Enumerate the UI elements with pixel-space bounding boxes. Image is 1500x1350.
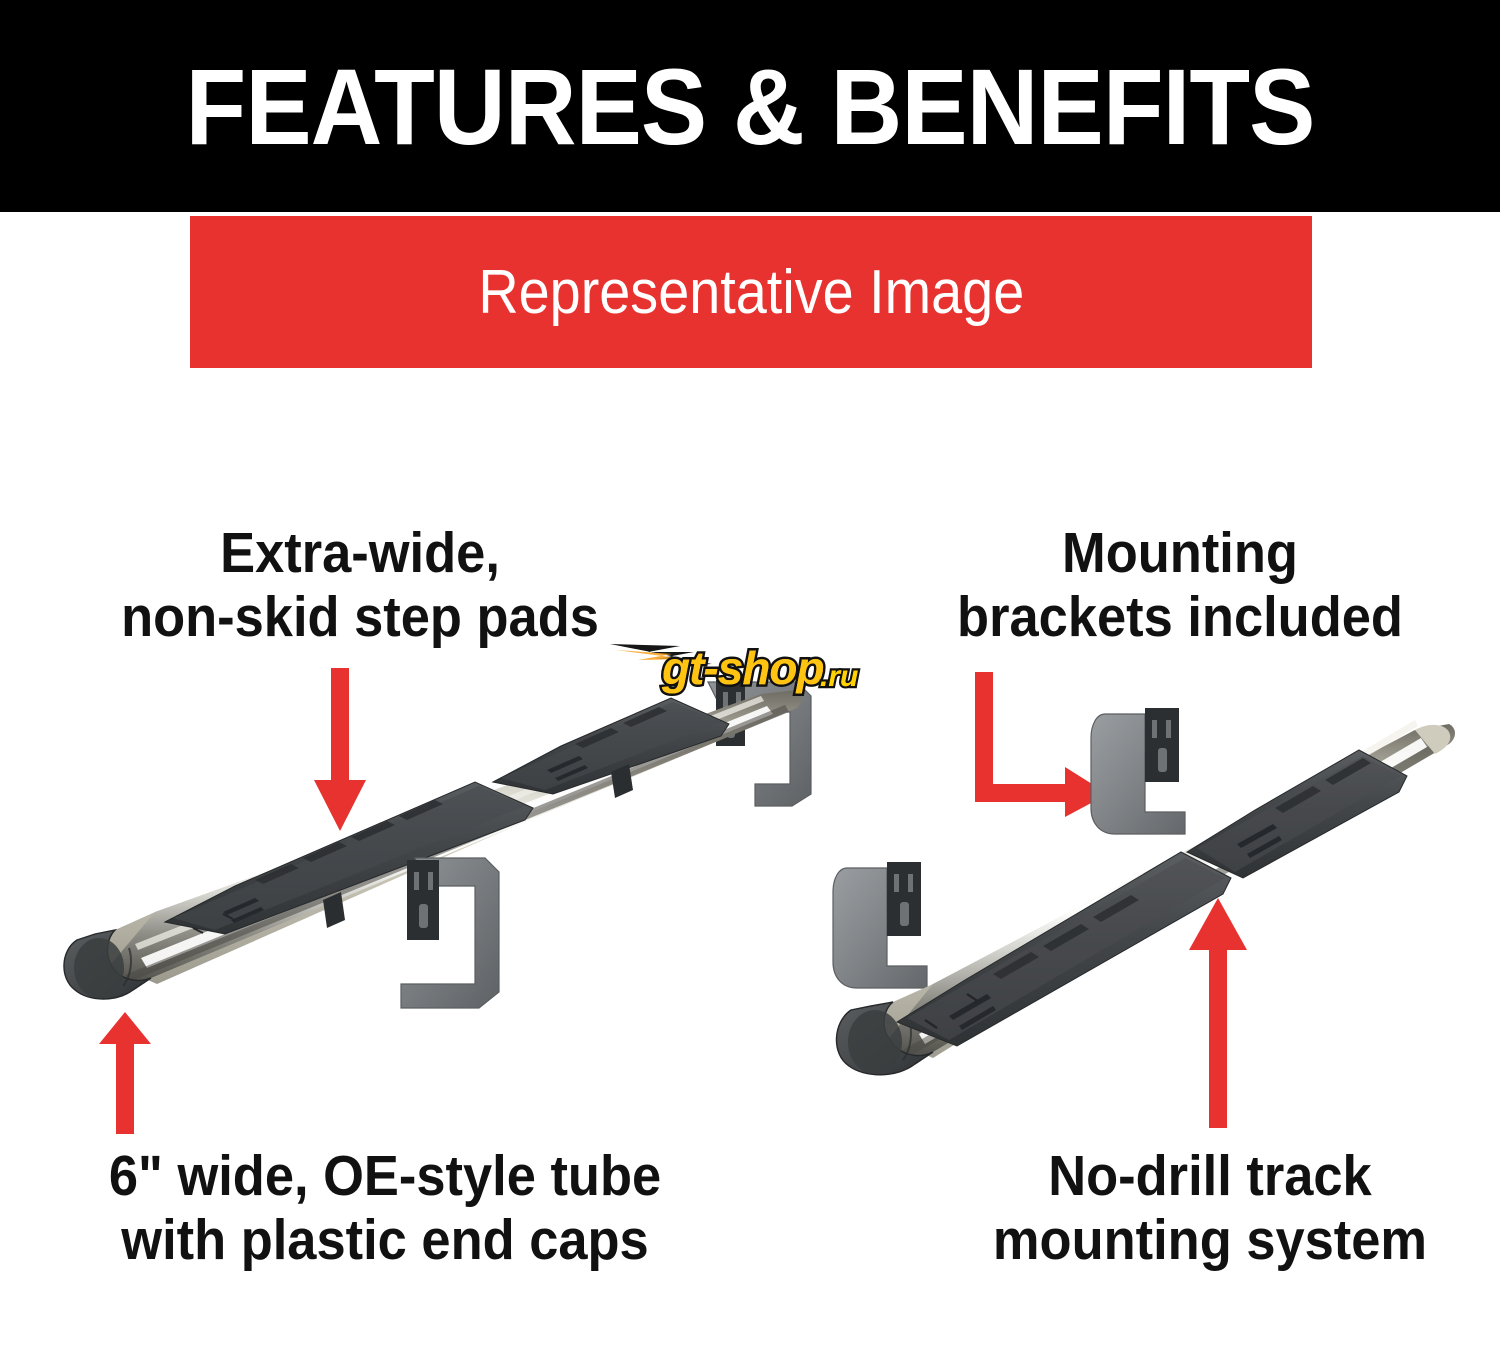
callout-oe-style-tube: 6" wide, OE-style tube with plastic end …: [58, 1145, 711, 1273]
callout-no-drill-track: No-drill track mounting system: [971, 1145, 1449, 1273]
product-image-running-board-left: [55, 672, 845, 1042]
watermark-wordmark: gt-shop gt-shop .ru .ru: [661, 642, 858, 694]
step-pad-rear: [1187, 750, 1407, 878]
no-drill-bracket-upper: [1091, 708, 1185, 834]
svg-text:.ru: .ru: [820, 660, 858, 693]
svg-text:gt-shop: gt-shop: [661, 642, 824, 694]
callout-line-1: No-drill track: [971, 1145, 1449, 1209]
watermark-gt-shop-logo: gt-shop gt-shop .ru .ru: [608, 628, 908, 708]
callout-line-1: Mounting: [922, 522, 1437, 586]
callout-line-2: with plastic end caps: [58, 1209, 711, 1273]
page-title: FEATURES & BENEFITS: [60, 0, 1440, 212]
mounting-bracket-front: [401, 858, 499, 1008]
callout-mounting-brackets: Mounting brackets included: [922, 522, 1437, 650]
step-pad-front: [897, 852, 1231, 1046]
no-drill-bracket-lower: [833, 862, 927, 988]
callout-line-2: mounting system: [971, 1209, 1449, 1273]
header-bar: FEATURES & BENEFITS: [0, 0, 1500, 212]
callout-line-1: 6" wide, OE-style tube: [58, 1145, 711, 1209]
representative-image-label: Representative Image: [478, 257, 1024, 328]
callout-line-2: brackets included: [922, 586, 1437, 650]
callout-line-2: non-skid step pads: [66, 586, 655, 650]
product-image-running-board-right: [815, 672, 1470, 1102]
callout-extra-wide-step-pads: Extra-wide, non-skid step pads: [66, 522, 655, 650]
representative-image-banner: Representative Image: [190, 216, 1312, 368]
callout-line-1: Extra-wide,: [66, 522, 655, 586]
